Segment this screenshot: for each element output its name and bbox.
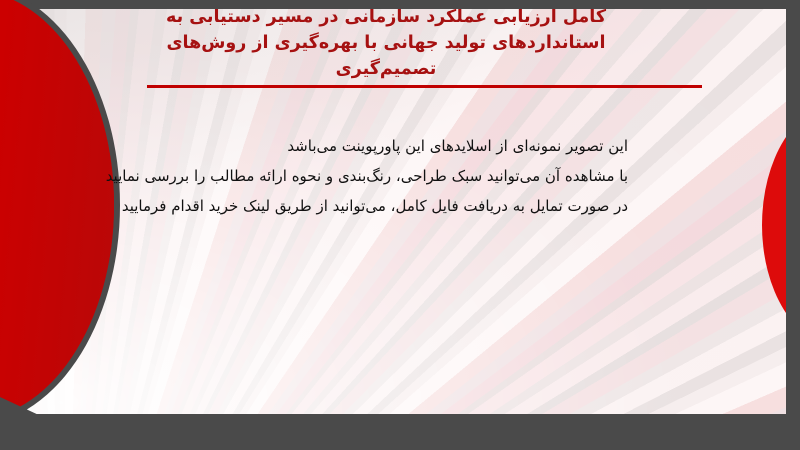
body-line-2: با مشاهده آن می‌توانید سبک طراحی، رنگ‌بن…	[158, 161, 628, 191]
title-divider-line	[147, 85, 702, 88]
presentation-slide: کامل ارزیابی عملکرد سازمانی در مسیر دستی…	[0, 0, 800, 450]
bottom-dark-bar	[0, 414, 800, 450]
body-line-1: این تصویر نمونه‌ای از اسلایدهای این پاور…	[158, 131, 628, 161]
slide-title: کامل ارزیابی عملکرد سازمانی در مسیر دستی…	[96, 9, 676, 82]
body-line-3: در صورت تمایل به دریافت فایل کامل، می‌تو…	[158, 191, 628, 221]
slide-content-panel: کامل ارزیابی عملکرد سازمانی در مسیر دستی…	[14, 9, 786, 419]
title-line-2: استانداردهای تولید جهانی با بهره‌گیری از…	[96, 30, 676, 56]
title-line-3: تصمیم‌گیری	[96, 56, 676, 82]
slide-body-text: این تصویر نمونه‌ای از اسلایدهای این پاور…	[158, 131, 628, 221]
title-line-1: کامل ارزیابی عملکرد سازمانی در مسیر دستی…	[96, 9, 676, 30]
